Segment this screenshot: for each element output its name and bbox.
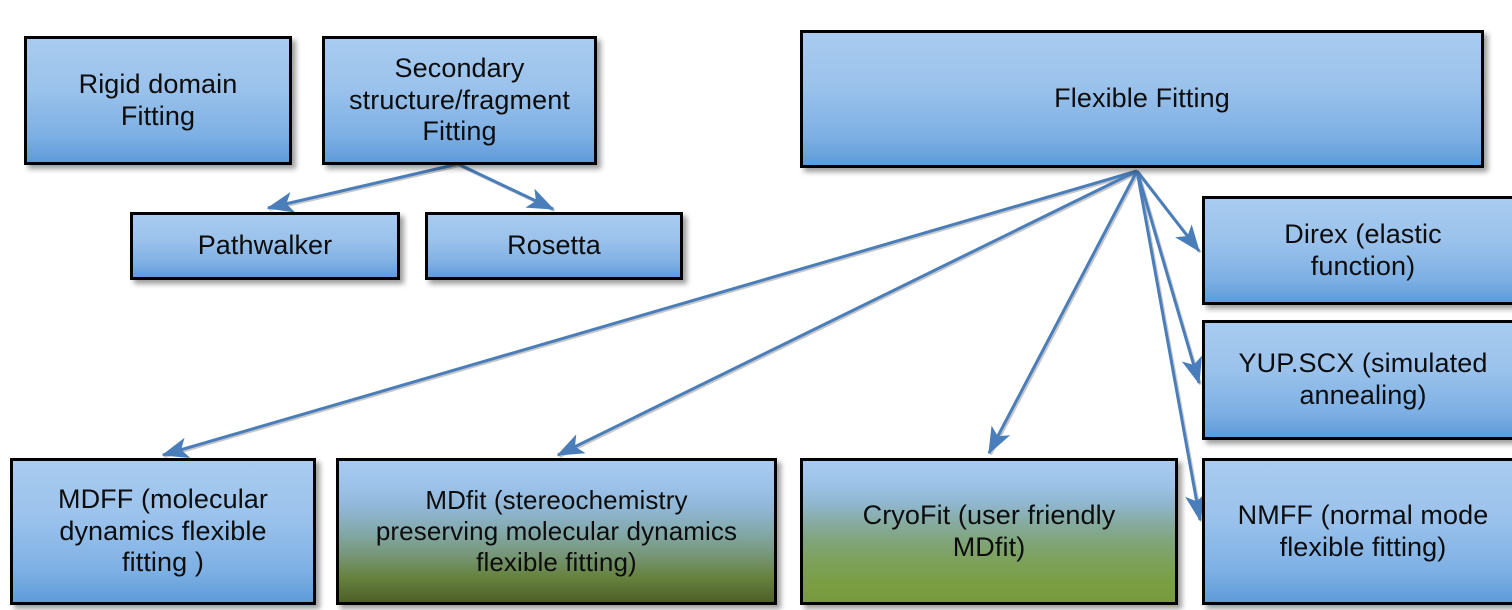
edge-flexible-to-direx [1137,171,1201,253]
node-yup-scx[interactable]: YUP.SCX (simulated annealing) [1202,320,1512,440]
node-pathwalker[interactable]: Pathwalker [130,212,400,280]
node-label-flexible-fitting: Flexible Fitting [803,83,1481,115]
node-label-rosetta: Rosetta [428,230,680,262]
node-secondary-structure-fragment-fitting[interactable]: Secondary structure/fragment Fitting [322,36,597,165]
node-label-rigid-domain-fitting: Rigid domain Fitting [27,69,289,133]
node-label-direx: Direx (elastic function) [1205,219,1512,283]
edge-flexible-to-yupscx [1137,171,1201,385]
node-cryofit[interactable]: CryoFit (user friendly MDfit) [800,458,1178,605]
edge-flexible-to-cryofit [989,171,1139,455]
node-label-secondary-structure-fragment-fitting: Secondary structure/fragment Fitting [325,53,594,149]
node-direx[interactable]: Direx (elastic function) [1202,196,1512,305]
node-rigid-domain-fitting[interactable]: Rigid domain Fitting [24,36,292,165]
diagram-canvas: Rigid domain FittingSecondary structure/… [0,0,1512,610]
node-nmff[interactable]: NMFF (normal mode flexible fitting) [1202,458,1512,605]
node-label-mdfit: MDfit (stereochemistry preserving molecu… [339,485,774,577]
edge-secondary-to-pathwalker [268,164,460,210]
node-rosetta[interactable]: Rosetta [425,212,683,280]
node-mdff[interactable]: MDFF (molecular dynamics flexible fittin… [10,458,316,605]
node-label-nmff: NMFF (normal mode flexible fitting) [1205,500,1512,564]
node-label-yup-scx: YUP.SCX (simulated annealing) [1205,348,1512,412]
node-label-mdff: MDFF (molecular dynamics flexible fittin… [13,484,313,580]
edge-secondary-to-rosetta [458,164,555,211]
node-label-cryofit: CryoFit (user friendly MDfit) [803,500,1175,564]
node-mdfit[interactable]: MDfit (stereochemistry preserving molecu… [336,458,777,605]
node-label-pathwalker: Pathwalker [133,230,397,262]
node-flexible-fitting[interactable]: Flexible Fitting [800,30,1484,168]
